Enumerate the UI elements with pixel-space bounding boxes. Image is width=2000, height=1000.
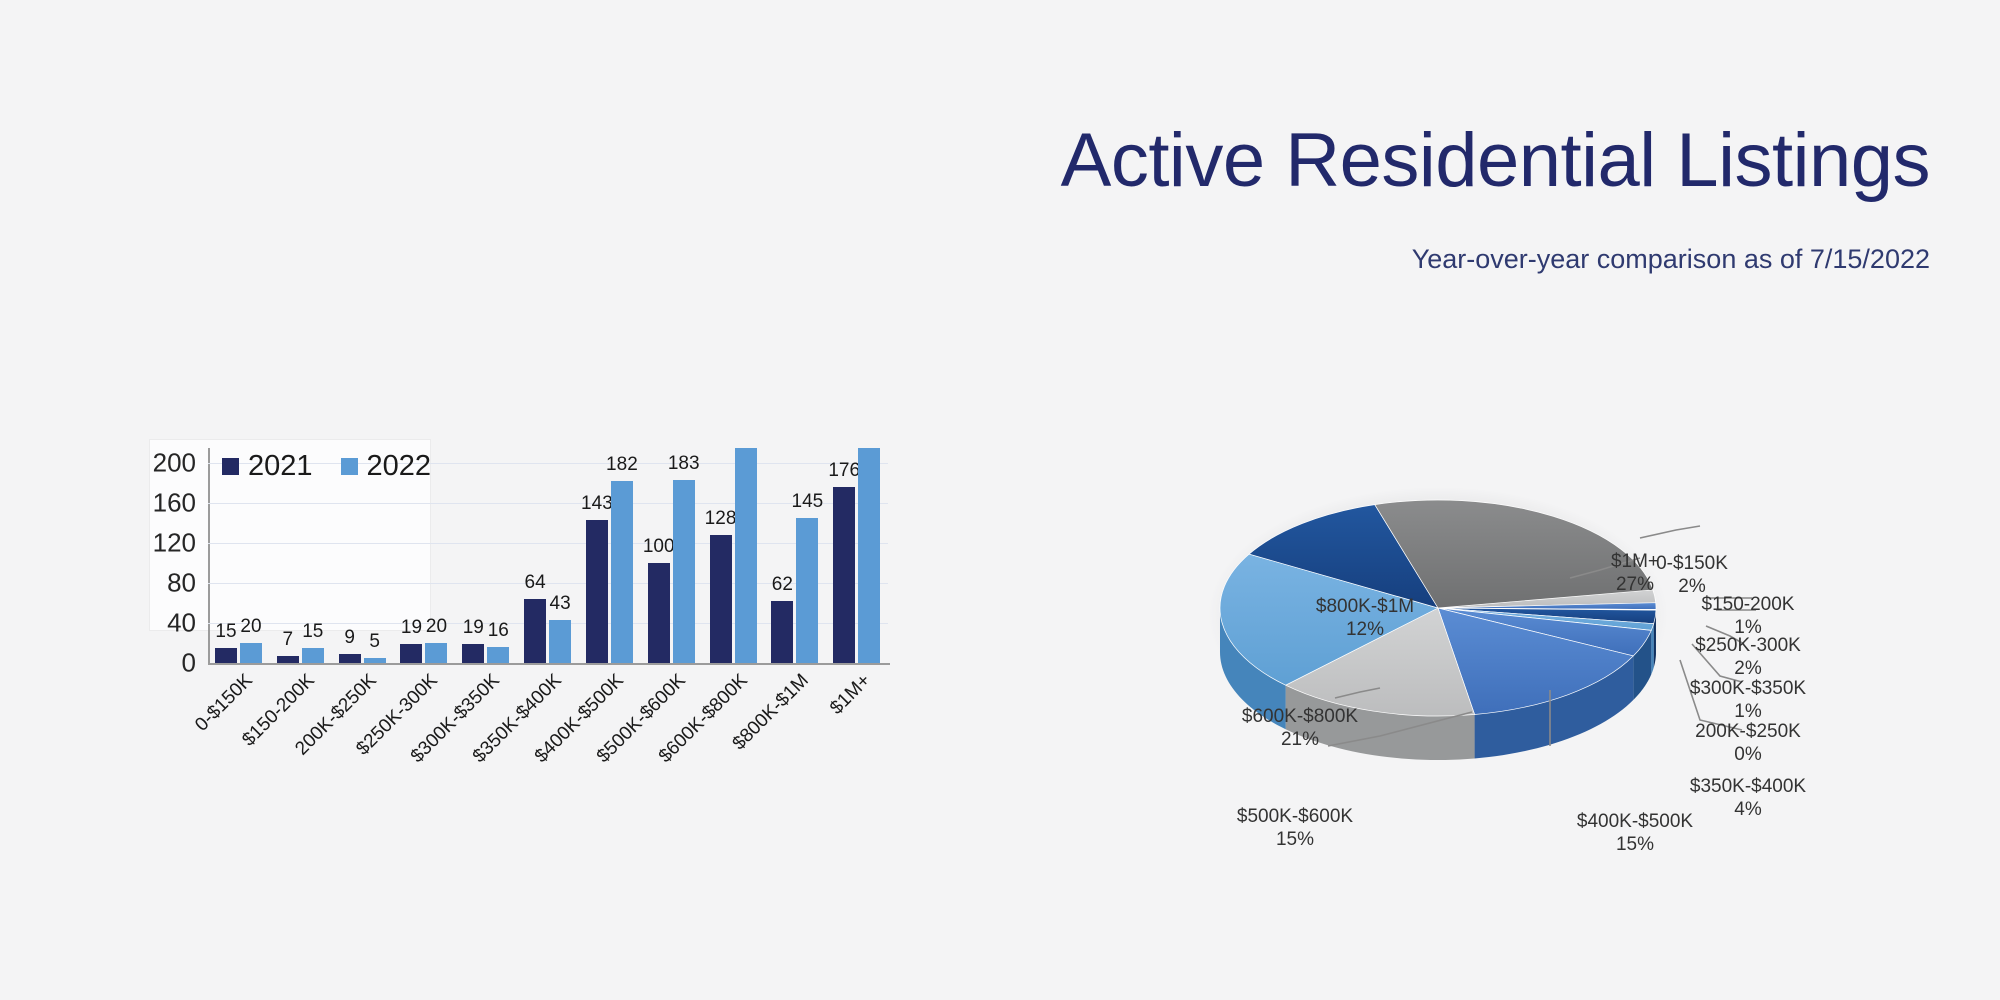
pie-label-category: $150-200K xyxy=(1702,593,1795,616)
legend-item-2021[interactable]: 2021 xyxy=(222,450,313,483)
pie-label-percent: 4% xyxy=(1690,798,1806,821)
bar-group: 1916 xyxy=(455,448,517,663)
pie-label-$300K-$350K: $300K-$350K1% xyxy=(1690,677,1806,723)
pie-label-category: $400K-$500K xyxy=(1577,810,1693,833)
bar-2021-$800K-$1M[interactable]: 62 xyxy=(771,601,793,663)
pie-label-percent: 15% xyxy=(1237,828,1353,851)
bar-group: 176 xyxy=(826,448,888,663)
pie-chart: $800K-$1M12%$600K-$800K21%$500K-$600K15%… xyxy=(1080,430,1980,850)
bar-2021-$1M+[interactable]: 176 xyxy=(833,487,855,663)
bar-2022-$400K-$500K[interactable]: 182 xyxy=(611,481,633,663)
pie-label-$600K-$800K: $600K-$800K21% xyxy=(1242,705,1358,751)
pie-label-category: $250K-300K xyxy=(1695,634,1801,657)
bar-value-label: 62 xyxy=(772,574,793,596)
pie-label-category: $1M+ xyxy=(1611,550,1659,573)
pie-label-$250K-300K: $250K-300K2% xyxy=(1695,634,1801,680)
bar-value-label: 5 xyxy=(369,631,380,653)
bar-2022-$800K-$1M[interactable]: 145 xyxy=(796,518,818,663)
bar-chart: 2021 2022 04080120160200 152071595192019… xyxy=(150,432,1050,852)
bar-2022-$300K-$350K[interactable]: 16 xyxy=(487,647,509,663)
legend-item-2022[interactable]: 2022 xyxy=(341,450,432,483)
bar-value-label: 15 xyxy=(215,621,236,643)
header: Active Residential Listings Year-over-ye… xyxy=(0,0,2000,300)
pie-graphic xyxy=(1080,430,1980,850)
pie-label-category: $500K-$600K xyxy=(1237,805,1353,828)
pie-label-percent: 12% xyxy=(1316,618,1414,641)
bar-2021-$600K-$800K[interactable]: 128 xyxy=(710,535,732,663)
bar-value-label: 182 xyxy=(606,454,638,476)
bar-value-label: 183 xyxy=(668,453,700,475)
x-axis-tick-label: $1M+ xyxy=(826,670,876,720)
pie-label-category: $800K-$1M xyxy=(1316,595,1414,618)
bar-2021-$500K-$600K[interactable]: 100 xyxy=(648,563,670,663)
bar-2022-$250K-300K[interactable]: 20 xyxy=(425,643,447,663)
legend-label-2022: 2022 xyxy=(367,450,432,483)
bar-value-label: 143 xyxy=(581,493,613,515)
y-axis-tick-label: 0 xyxy=(182,648,196,679)
pie-label-$1M+: $1M+27% xyxy=(1611,550,1659,596)
bar-2022-$350K-$400K[interactable]: 43 xyxy=(549,620,571,663)
bar-2021-$350K-$400K[interactable]: 64 xyxy=(524,599,546,663)
y-axis-tick-label: 120 xyxy=(153,528,196,559)
bar-value-label: 43 xyxy=(550,593,571,615)
pie-label-$500K-$600K: $500K-$600K15% xyxy=(1237,805,1353,851)
pie-label-0-$150K: 0-$150K2% xyxy=(1656,552,1728,598)
bar-2022-$150-200K[interactable]: 15 xyxy=(302,648,324,663)
bar-2021-200K-$250K[interactable]: 9 xyxy=(339,654,361,663)
pie-label-$800K-$1M: $800K-$1M12% xyxy=(1316,595,1414,641)
pie-label-percent: 27% xyxy=(1611,573,1659,596)
bar-2021-$300K-$350K[interactable]: 19 xyxy=(462,644,484,663)
bar-value-label: 7 xyxy=(283,629,294,651)
pie-label-$150-200K: $150-200K1% xyxy=(1702,593,1795,639)
bar-2022-$600K-$800K[interactable] xyxy=(735,448,757,663)
page-title: Active Residential Listings xyxy=(1061,118,1930,204)
bar-value-label: 20 xyxy=(426,616,447,638)
bar-value-label: 176 xyxy=(828,460,860,482)
bar-2022-$500K-$600K[interactable]: 183 xyxy=(673,480,695,663)
y-axis-tick-label: 80 xyxy=(167,568,196,599)
bar-value-label: 145 xyxy=(792,491,824,513)
legend-label-2021: 2021 xyxy=(248,450,313,483)
bar-2021-$250K-300K[interactable]: 19 xyxy=(400,644,422,663)
y-axis-tick-label: 200 xyxy=(153,448,196,479)
y-axis-tick-label: 40 xyxy=(167,608,196,639)
bar-value-label: 19 xyxy=(463,617,484,639)
bar-group: 143182 xyxy=(579,448,641,663)
bar-value-label: 19 xyxy=(401,617,422,639)
bar-value-label: 20 xyxy=(240,616,261,638)
pie-label-category: $350K-$400K xyxy=(1690,775,1806,798)
bar-value-label: 9 xyxy=(344,627,355,649)
bar-2022-$1M+[interactable] xyxy=(858,448,880,663)
bar-chart-legend: 2021 2022 xyxy=(222,450,431,483)
bar-2021-0-$150K[interactable]: 15 xyxy=(215,648,237,663)
pie-slice-side xyxy=(1651,624,1653,675)
bar-group: 62145 xyxy=(764,448,826,663)
bar-2021-$400K-$500K[interactable]: 143 xyxy=(586,520,608,663)
pie-label-category: 0-$150K xyxy=(1656,552,1728,575)
bar-value-label: 64 xyxy=(525,572,546,594)
bar-2022-200K-$250K[interactable]: 5 xyxy=(364,658,386,663)
bar-value-label: 128 xyxy=(705,508,737,530)
pie-label-$350K-$400K: $350K-$400K4% xyxy=(1690,775,1806,821)
bar-value-label: 100 xyxy=(643,536,675,558)
pie-label-200K-$250K: 200K-$250K0% xyxy=(1695,720,1801,766)
y-axis-tick-label: 160 xyxy=(153,488,196,519)
bar-value-label: 15 xyxy=(302,621,323,643)
x-axis-line xyxy=(208,663,890,665)
series-2021-swatch-icon xyxy=(222,458,239,475)
pie-label-percent: 21% xyxy=(1242,728,1358,751)
pie-top-faces xyxy=(1220,500,1656,716)
pie-label-percent: 0% xyxy=(1695,743,1801,766)
bar-group: 128 xyxy=(703,448,765,663)
pie-label-percent: 15% xyxy=(1577,833,1693,856)
series-2022-swatch-icon xyxy=(341,458,358,475)
bar-2021-$150-200K[interactable]: 7 xyxy=(277,656,299,663)
pie-label-category: $600K-$800K xyxy=(1242,705,1358,728)
pie-label-category: 200K-$250K xyxy=(1695,720,1801,743)
bar-group: 100183 xyxy=(641,448,703,663)
pie-label-category: $300K-$350K xyxy=(1690,677,1806,700)
pie-label-$400K-$500K: $400K-$500K15% xyxy=(1577,810,1693,856)
page-subtitle: Year-over-year comparison as of 7/15/202… xyxy=(1412,243,1930,275)
bar-2022-0-$150K[interactable]: 20 xyxy=(240,643,262,663)
pie-leader-line xyxy=(1640,526,1700,538)
bar-value-label: 16 xyxy=(488,620,509,642)
bar-group: 6443 xyxy=(517,448,579,663)
